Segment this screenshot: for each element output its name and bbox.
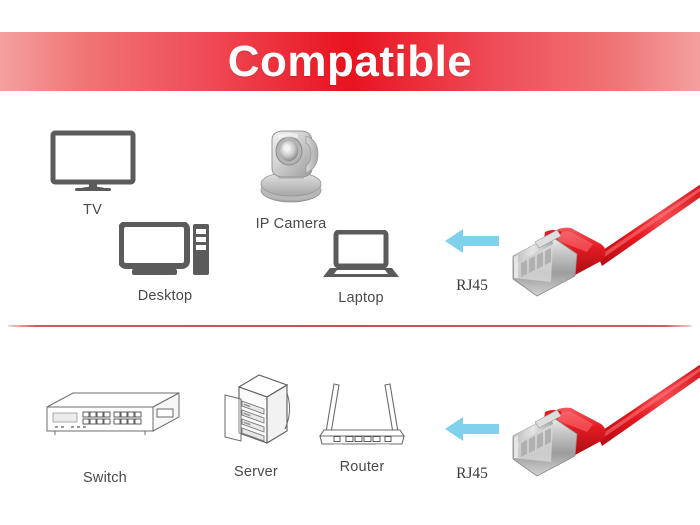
device-ip-camera: IP Camera	[226, 124, 356, 232]
device-laptop: Laptop	[310, 230, 412, 306]
router-icon	[312, 378, 412, 453]
device-switch: Switch	[25, 385, 185, 486]
desktop-icon	[119, 222, 211, 283]
rj45-label-top: RJ45	[456, 277, 488, 295]
device-label-switch: Switch	[83, 470, 127, 486]
switch-icon	[29, 385, 181, 452]
rj45-connector-top: RJ45	[432, 226, 512, 295]
tv-icon	[50, 130, 136, 197]
rj45-red-cable-image-top	[505, 178, 700, 308]
device-label-desktop: Desktop	[138, 288, 193, 304]
page-title: Compatible	[228, 40, 473, 84]
section-divider	[8, 325, 692, 327]
device-tv: TV	[45, 130, 140, 218]
device-server: Server	[208, 371, 304, 480]
laptop-icon	[322, 230, 400, 285]
server-rack-icon	[217, 371, 295, 458]
device-label-laptop: Laptop	[338, 290, 384, 306]
rj45-red-cable-image-bottom	[505, 358, 700, 488]
device-router: Router	[310, 378, 414, 475]
arrow-left-icon	[443, 414, 501, 449]
arrow-left-icon	[443, 226, 501, 261]
rj45-label-bottom: RJ45	[456, 465, 488, 483]
device-desktop: Desktop	[110, 222, 220, 304]
ip-camera-icon	[248, 124, 334, 211]
header-banner: Compatible	[0, 32, 700, 91]
device-label-router: Router	[340, 459, 385, 475]
device-label-server: Server	[234, 464, 278, 480]
rj45-connector-bottom: RJ45	[432, 414, 512, 483]
device-label-tv: TV	[83, 202, 102, 218]
